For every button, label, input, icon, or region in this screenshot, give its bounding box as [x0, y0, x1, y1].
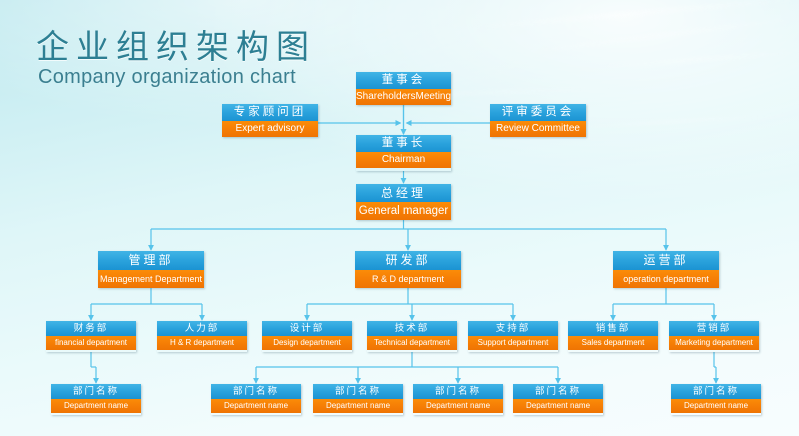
org-node-advisory[interactable]: 专家顾问团Expert advisory: [222, 104, 318, 137]
org-node-chairman[interactable]: 董事长Chairman: [356, 135, 451, 171]
org-node-label-cn: 部门名称: [51, 384, 141, 399]
org-node-label-cn: 运营部: [613, 251, 719, 270]
org-node-tech[interactable]: 技术部Technical department: [367, 321, 457, 352]
org-node-label-cn: 总经理: [356, 184, 451, 202]
org-node-label-en: Department name: [51, 399, 141, 413]
org-node-ops[interactable]: 运营部operation department: [613, 251, 719, 288]
org-node-label-en: R & D department: [355, 270, 461, 288]
org-node-label-en: Marketing department: [669, 336, 759, 350]
org-node-support[interactable]: 支持部Support department: [468, 321, 558, 352]
background-streak: [521, 16, 799, 53]
org-node-label-en: Chairman: [356, 152, 451, 168]
org-node-label-cn: 营销部: [669, 321, 759, 336]
org-node-label-en: Design department: [262, 336, 352, 350]
org-node-label-en: General manager: [356, 202, 451, 220]
org-node-label-en: Department name: [413, 399, 503, 413]
page-title-english: Company organization chart: [38, 66, 296, 89]
org-node-finance[interactable]: 财务部financial department: [46, 321, 136, 352]
org-node-label-cn: 设计部: [262, 321, 352, 336]
background-streak: [600, 51, 799, 68]
page-title-chinese: 企业组织架构图: [36, 20, 316, 68]
org-node-label-en: Department name: [513, 399, 603, 413]
org-node-label-cn: 专家顾问团: [222, 104, 318, 121]
org-node-label-en: Department name: [211, 399, 301, 413]
org-node-label-cn: 董事长: [356, 135, 451, 152]
org-node-label-cn: 部门名称: [211, 384, 301, 399]
org-node-label-en: Review Committee: [490, 121, 586, 137]
org-node-label-en: Support department: [468, 336, 558, 350]
org-node-leaf2[interactable]: 部门名称Department name: [211, 384, 301, 415]
background-streak: [560, 113, 799, 128]
org-node-label-cn: 评审委员会: [490, 104, 586, 121]
organization-chart-slide: 企业组织架构图 Company organization chart 董事会Sh…: [0, 0, 799, 436]
org-node-label-cn: 销售部: [568, 321, 658, 336]
org-node-label-en: operation department: [613, 270, 719, 288]
org-node-rnd[interactable]: 研发部R & D department: [355, 251, 461, 288]
background-streak: [470, 0, 799, 29]
org-node-mgmt[interactable]: 管理部Management Department: [98, 251, 204, 288]
org-node-leaf3[interactable]: 部门名称Department name: [313, 384, 403, 415]
org-node-label-cn: 研发部: [355, 251, 461, 270]
org-node-label-en: Department name: [313, 399, 403, 413]
org-node-label-cn: 部门名称: [413, 384, 503, 399]
org-node-gm[interactable]: 总经理General manager: [356, 184, 451, 220]
org-node-label-cn: 技术部: [367, 321, 457, 336]
org-node-leaf4[interactable]: 部门名称Department name: [413, 384, 503, 415]
org-node-hr[interactable]: 人力部H & R department: [157, 321, 247, 352]
org-node-label-en: Department name: [671, 399, 761, 413]
org-node-label-cn: 董事会: [356, 72, 451, 89]
org-node-board[interactable]: 董事会ShareholdersMeeting: [356, 72, 451, 105]
org-node-label-cn: 部门名称: [671, 384, 761, 399]
org-node-label-en: H & R department: [157, 336, 247, 350]
org-node-review[interactable]: 评审委员会Review Committee: [490, 104, 586, 137]
org-node-label-cn: 部门名称: [513, 384, 603, 399]
org-node-leaf1[interactable]: 部门名称Department name: [51, 384, 141, 415]
org-node-marketing[interactable]: 营销部Marketing department: [669, 321, 759, 352]
org-node-label-cn: 人力部: [157, 321, 247, 336]
org-node-label-en: Technical department: [367, 336, 457, 350]
org-node-label-en: financial department: [46, 336, 136, 350]
org-node-label-cn: 部门名称: [313, 384, 403, 399]
org-node-label-cn: 财务部: [46, 321, 136, 336]
org-node-design[interactable]: 设计部Design department: [262, 321, 352, 352]
org-node-leaf6[interactable]: 部门名称Department name: [671, 384, 761, 415]
org-node-label-cn: 管理部: [98, 251, 204, 270]
org-node-leaf5[interactable]: 部门名称Department name: [513, 384, 603, 415]
org-node-label-cn: 支持部: [468, 321, 558, 336]
org-node-label-en: Expert advisory: [222, 121, 318, 137]
org-node-sales[interactable]: 销售部Sales department: [568, 321, 658, 352]
org-node-label-en: Management Department: [98, 270, 204, 288]
org-node-label-en: ShareholdersMeeting: [356, 89, 451, 105]
org-node-label-en: Sales department: [568, 336, 658, 350]
